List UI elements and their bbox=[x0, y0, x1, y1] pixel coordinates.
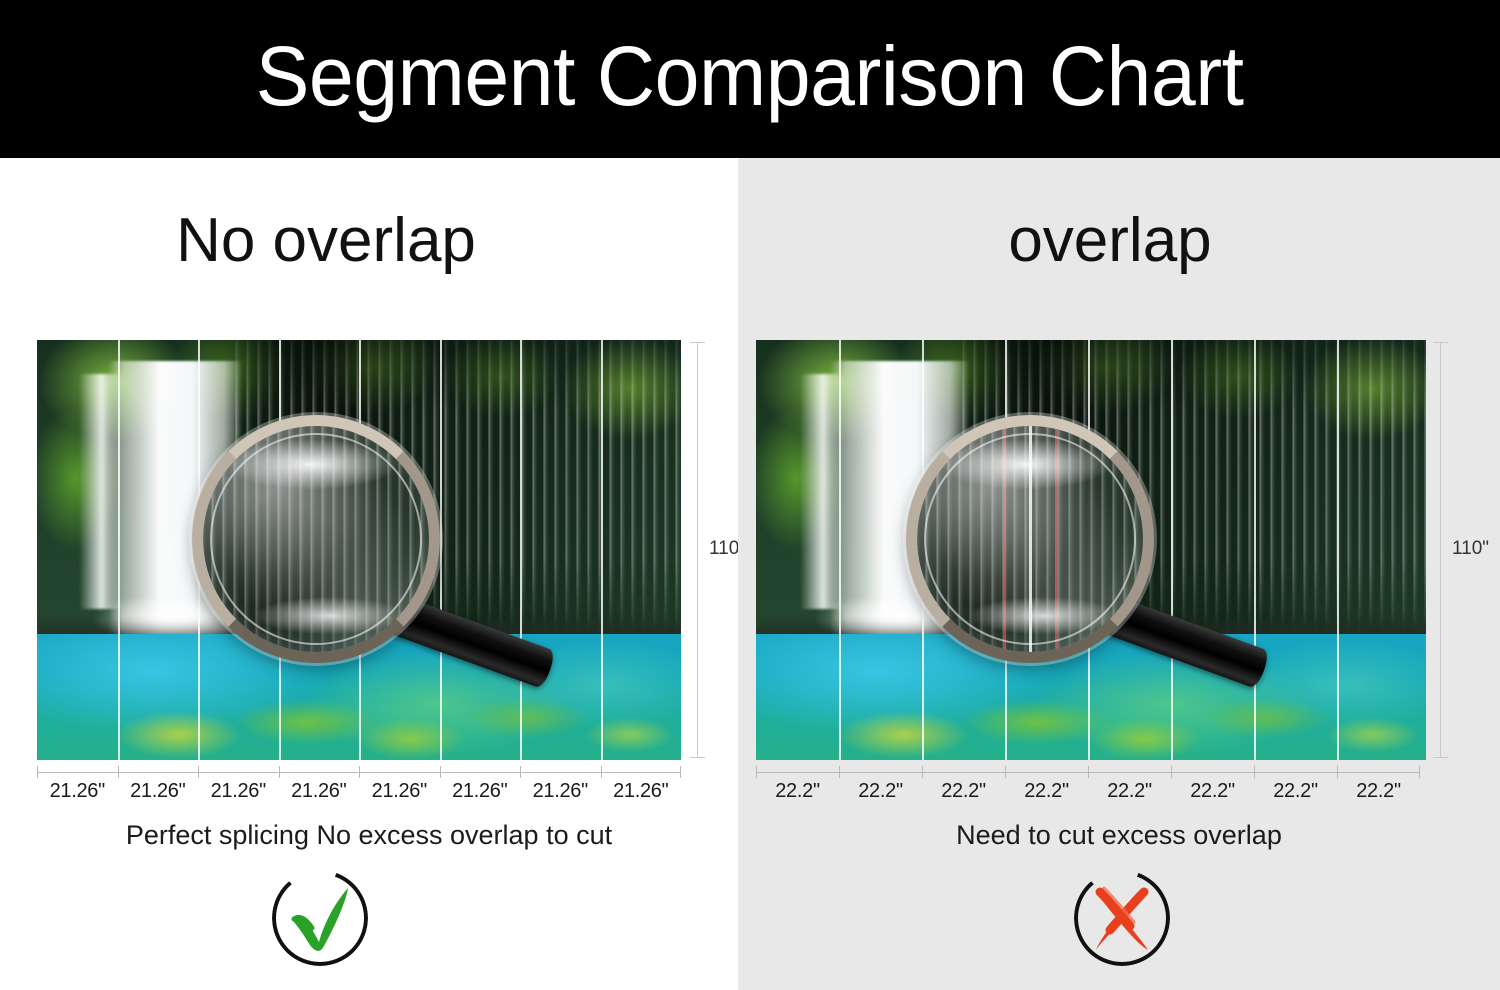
segment-labels-right: 22.2" 22.2" 22.2" 22.2" 22.2" 22.2" 22.2… bbox=[756, 780, 1420, 803]
caption-overlap: Need to cut excess overlap bbox=[738, 820, 1500, 851]
status-badge-cross bbox=[1074, 870, 1170, 966]
comparison-panels: No overlap bbox=[0, 158, 1500, 990]
segment-label: 21.26" bbox=[198, 780, 279, 803]
magnifier-ring bbox=[192, 415, 440, 663]
panel-no-overlap: No overlap bbox=[0, 158, 738, 990]
segment-label: 22.2" bbox=[1337, 780, 1420, 803]
segment-comparison-page: Segment Comparison Chart No overlap bbox=[0, 0, 1500, 990]
panel-heading-no-overlap: No overlap bbox=[0, 210, 738, 272]
magnifier-icon bbox=[906, 415, 1154, 663]
segment-label: 21.26" bbox=[601, 780, 682, 803]
segment-label: 21.26" bbox=[279, 780, 360, 803]
panel-heading-overlap: overlap bbox=[738, 210, 1500, 272]
title-banner: Segment Comparison Chart bbox=[0, 0, 1500, 158]
width-dimension-line-right bbox=[756, 772, 1420, 773]
height-dimension-line-right bbox=[1440, 342, 1441, 758]
segment-label: 22.2" bbox=[1005, 780, 1088, 803]
segment-label: 22.2" bbox=[1088, 780, 1171, 803]
magnifier-icon bbox=[192, 415, 440, 663]
segment-label: 21.26" bbox=[520, 780, 601, 803]
segment-label: 22.2" bbox=[922, 780, 1005, 803]
status-badge-check bbox=[272, 870, 368, 966]
cross-icon bbox=[1074, 870, 1170, 966]
check-icon bbox=[272, 870, 368, 966]
segment-label: 22.2" bbox=[839, 780, 922, 803]
height-dimension-label-right: 110" bbox=[1452, 538, 1489, 560]
mural-figure-no-overlap: 110" 21.26" bbox=[37, 340, 681, 760]
panel-overlap: overlap bbox=[738, 158, 1500, 990]
segment-label: 22.2" bbox=[1254, 780, 1337, 803]
page-title: Segment Comparison Chart bbox=[256, 34, 1244, 124]
segment-label: 21.26" bbox=[359, 780, 440, 803]
segment-label: 22.2" bbox=[756, 780, 839, 803]
segment-label: 21.26" bbox=[37, 780, 118, 803]
magnifier-ring bbox=[906, 415, 1154, 663]
segment-label: 22.2" bbox=[1171, 780, 1254, 803]
width-dimension-line-left bbox=[37, 772, 681, 773]
segment-labels-left: 21.26" 21.26" 21.26" 21.26" 21.26" 21.26… bbox=[37, 780, 681, 803]
mural-figure-overlap: 110" 22.2" bbox=[756, 340, 1426, 760]
segment-label: 21.26" bbox=[440, 780, 521, 803]
height-dimension-line-left bbox=[697, 342, 698, 758]
segment-label: 21.26" bbox=[118, 780, 199, 803]
caption-no-overlap: Perfect splicing No excess overlap to cu… bbox=[0, 820, 738, 851]
